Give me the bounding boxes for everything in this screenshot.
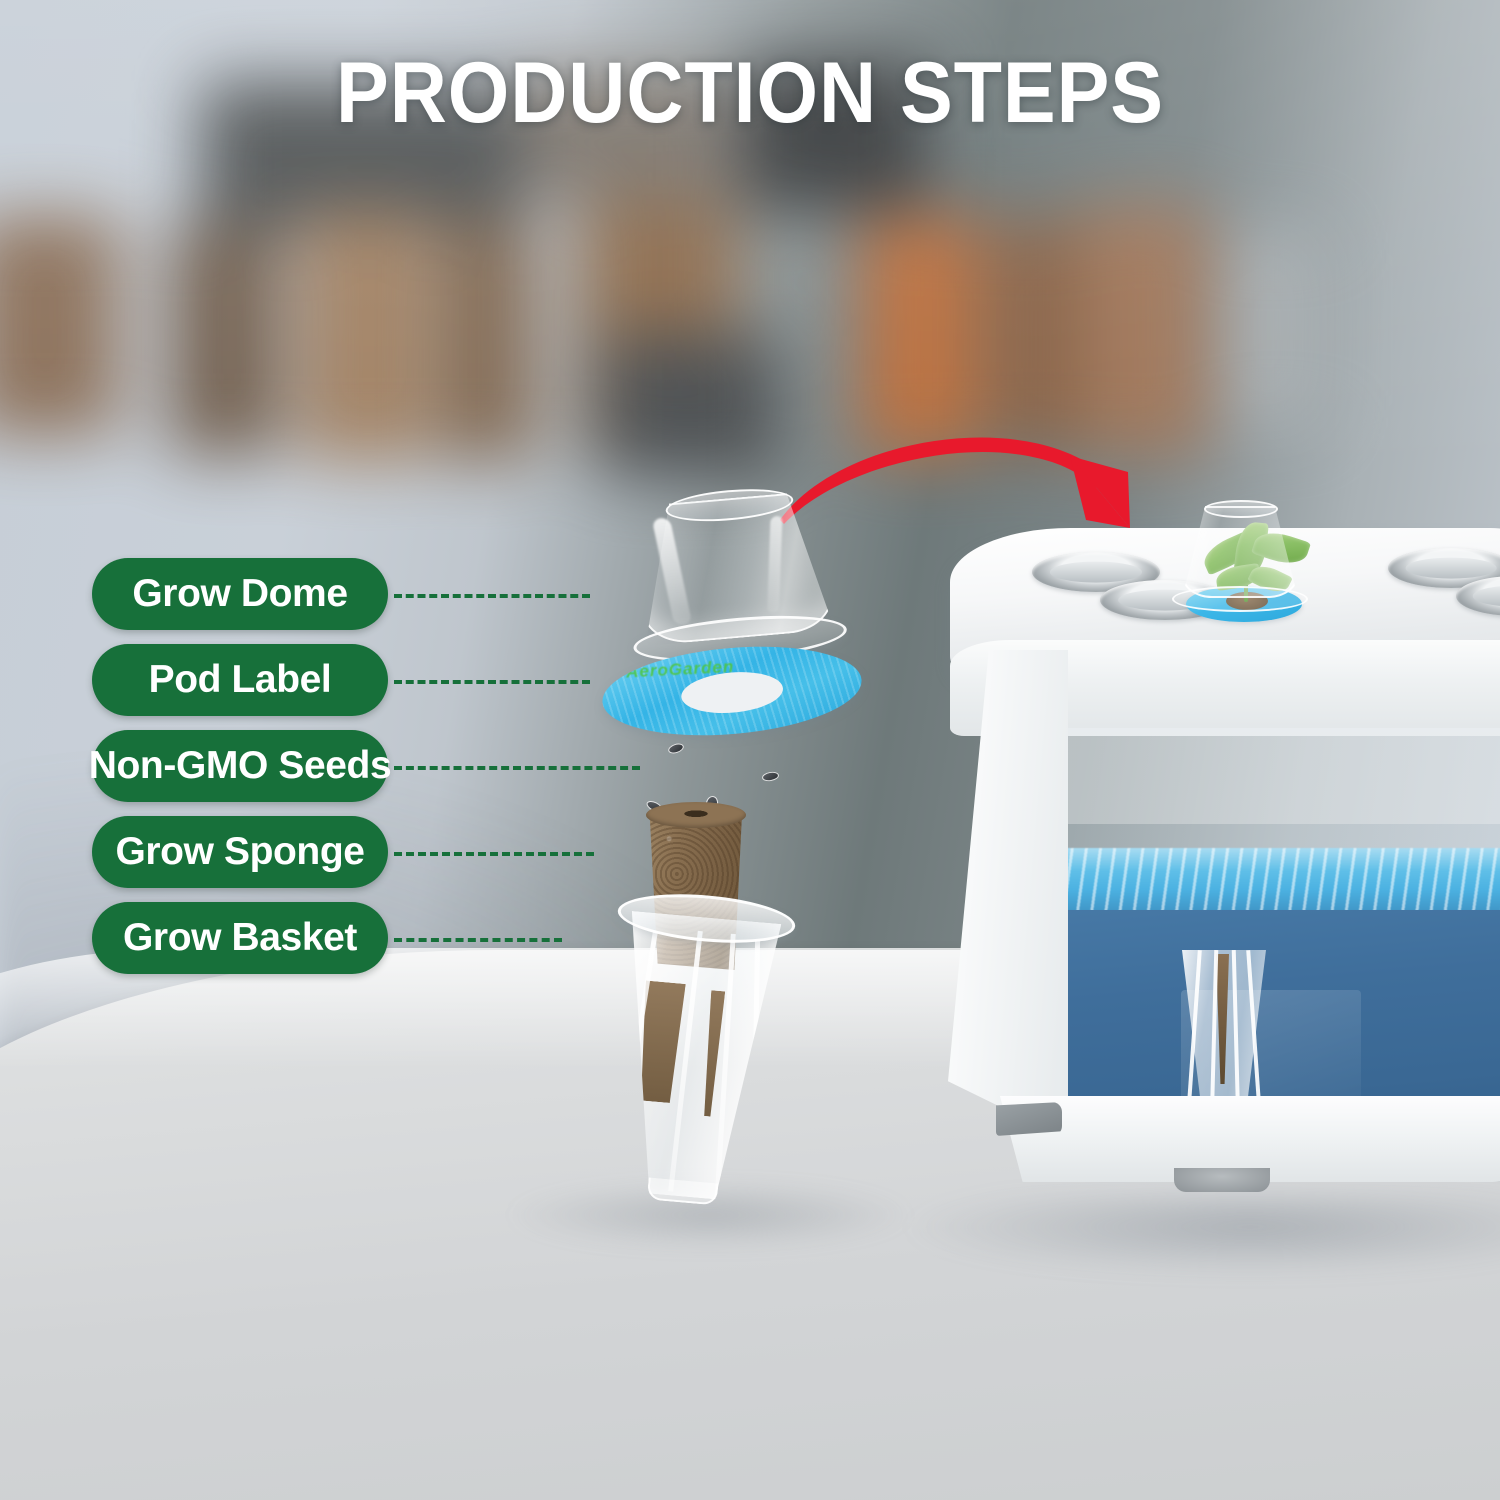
exploded-pod-assembly: AeroGarden [560,480,940,1240]
infographic-canvas: PRODUCTION STEPS Grow Dome Pod Label Non… [0,0,1500,1500]
seed-icon [761,771,779,783]
callout-pill-grow-dome[interactable]: Grow Dome [92,558,388,630]
callout-label: Grow Sponge [115,830,364,874]
grow-basket-icon [593,888,797,1212]
callout-label: Pod Label [149,658,332,702]
callout-label: Non-GMO Seeds [89,744,392,788]
callout-label: Grow Dome [132,572,347,616]
hydroponic-garden-device [940,500,1500,1240]
seed-icon [667,742,685,756]
device-vent-slot [996,1102,1062,1136]
page-title: PRODUCTION STEPS [60,44,1440,143]
callout-label: Grow Basket [123,916,357,960]
device-foot [1174,1168,1270,1192]
installed-grow-dome [1170,500,1310,612]
callout-pill-non-gmo-seeds[interactable]: Non-GMO Seeds [92,730,388,802]
callout-pill-grow-basket[interactable]: Grow Basket [92,902,388,974]
callout-pill-grow-sponge[interactable]: Grow Sponge [92,816,388,888]
callout-pill-pod-label[interactable]: Pod Label [92,644,388,716]
callout-dash-grow-basket [394,938,562,942]
